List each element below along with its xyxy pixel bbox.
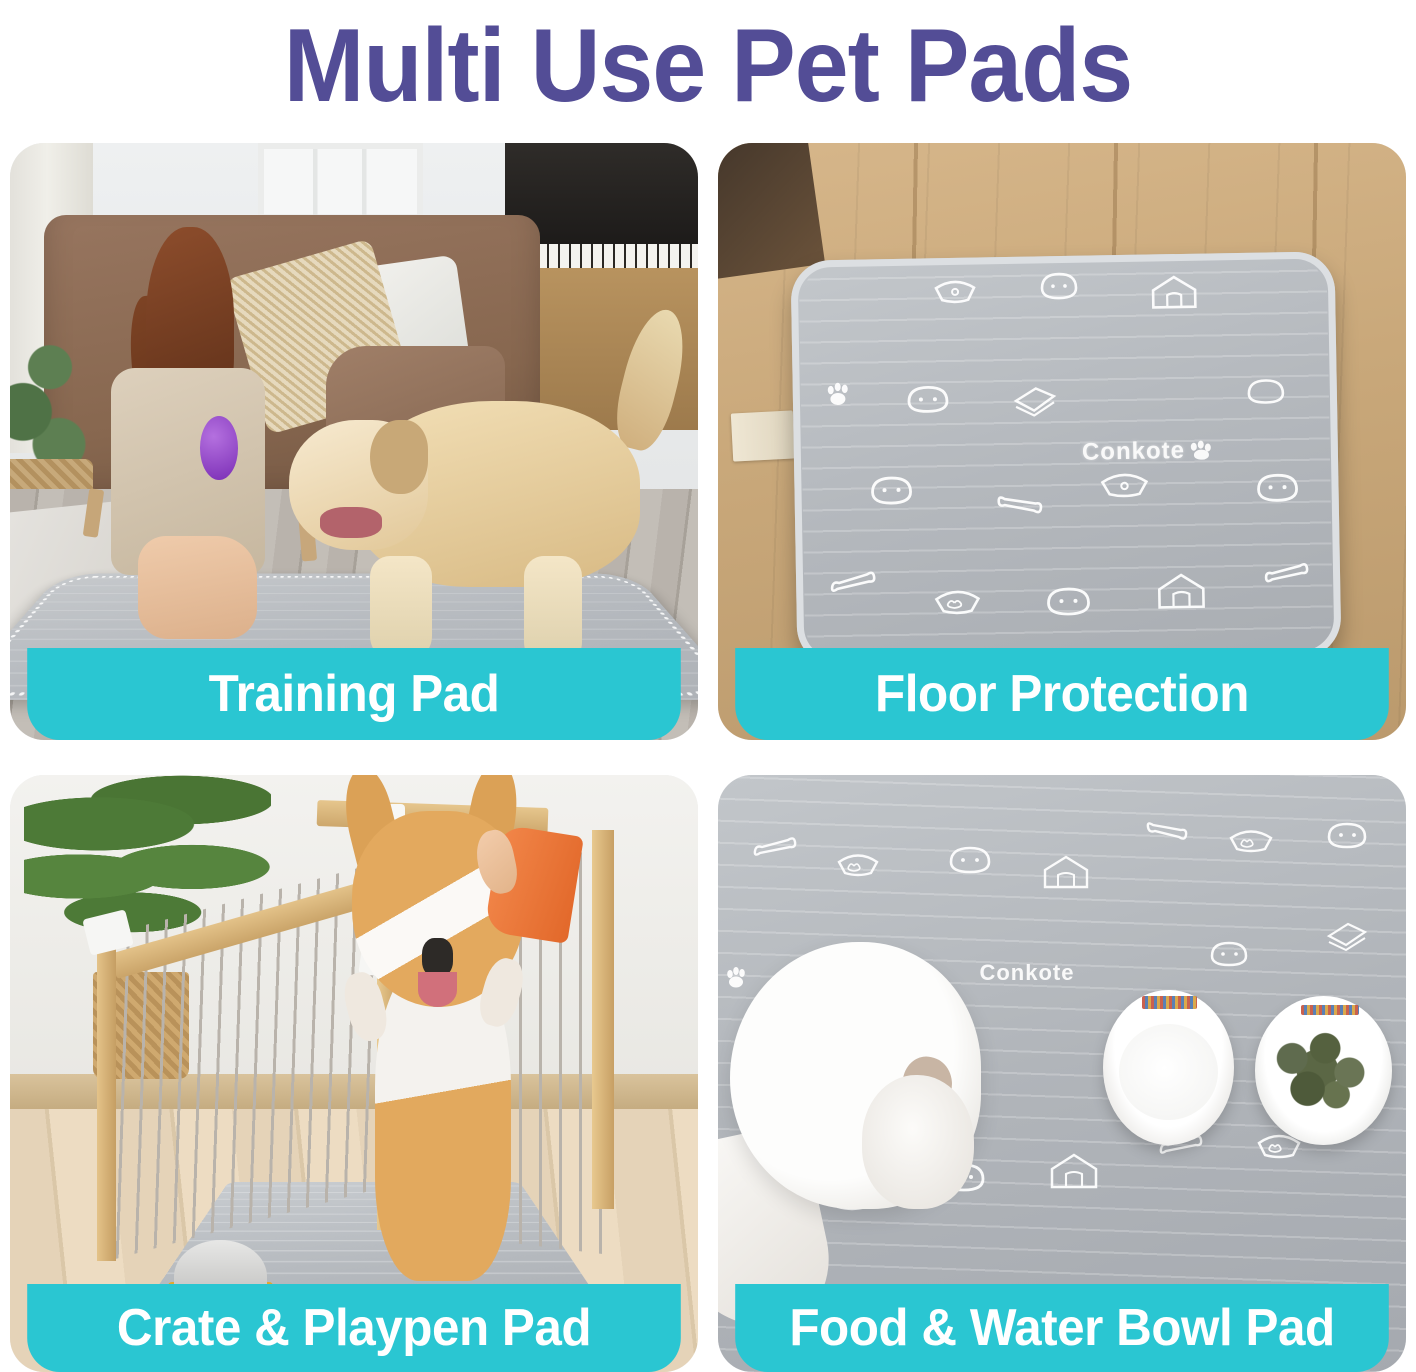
puppy-face-icon [865, 470, 918, 507]
paw-print-icon [825, 382, 853, 408]
caption-crate-playpen-pad: Crate & Playpen Pad [27, 1284, 681, 1372]
puppy-face-icon [901, 380, 954, 415]
puppy-face-icon [1323, 817, 1371, 849]
corgi-mouth [418, 972, 458, 1006]
puppy-face-icon [1243, 374, 1288, 405]
page-title: Multi Use Pet Pads [50, 0, 1367, 132]
puppy-face-icon [945, 841, 995, 875]
playpen-post-right [592, 830, 614, 1208]
care-tag [731, 410, 795, 461]
food-bowl-icon [932, 274, 979, 305]
bone-icon [828, 568, 878, 597]
bowl-decoration [1142, 996, 1197, 1008]
white-cat [718, 942, 1021, 1312]
water-bowl [1103, 990, 1234, 1145]
pad-stack-icon [1010, 382, 1059, 417]
infographic-page: Multi Use Pet Pads [0, 0, 1416, 1370]
plate-food [1268, 1020, 1378, 1121]
food-bowl-icon [932, 583, 983, 616]
labrador-dog [285, 364, 670, 674]
pet-pad: Conkote [790, 252, 1341, 667]
bowl-milk [1119, 1024, 1218, 1120]
caption-food-water-bowl-pad: Food & Water Bowl Pad [735, 1284, 1389, 1372]
corgi-dog [333, 811, 567, 1301]
food-bowl-icon [835, 847, 881, 877]
girl [99, 227, 292, 657]
card-floor-protection[interactable]: Conkote Floor Protection [718, 143, 1406, 740]
food-plate [1255, 996, 1393, 1145]
playpen-post-left [97, 925, 116, 1261]
dog-house-icon [1041, 853, 1091, 891]
bone-icon [752, 835, 798, 861]
dog-house-icon [1048, 1151, 1100, 1191]
dog-ear [370, 420, 428, 495]
caption-training-pad: Training Pad [27, 648, 681, 740]
puppy-face-icon [1206, 936, 1252, 968]
plate-decoration [1301, 1005, 1359, 1015]
dog-house-icon [1154, 571, 1207, 612]
bone-icon [1263, 561, 1311, 588]
dog-front-leg [370, 556, 432, 662]
scene-cat-bowls: Conkote Conkote [718, 775, 1406, 1372]
card-food-water-bowl-pad[interactable]: Conkote Conkote [718, 775, 1406, 1372]
legs [138, 536, 257, 639]
brand-logo: Conkote [1081, 437, 1210, 467]
pad-stack-icon [1323, 918, 1369, 952]
cat-head [862, 1075, 974, 1208]
purple-ball-toy [200, 416, 239, 480]
puppy-face-icon [1035, 268, 1082, 301]
paw-print-icon [1190, 441, 1210, 461]
puppy-face-icon [1040, 581, 1095, 618]
puppy-face-icon [1250, 467, 1303, 504]
dog-house-icon [1149, 274, 1198, 311]
floor-shadow [718, 143, 824, 283]
caption-floor-protection: Floor Protection [735, 648, 1389, 740]
bone-icon [1145, 817, 1189, 843]
card-crate-playpen-pad[interactable]: Crate & Playpen Pad [10, 775, 698, 1372]
use-case-grid: Training Pad [10, 143, 1406, 1370]
scene-playpen [10, 775, 698, 1372]
dog-mouth [320, 507, 382, 538]
food-bowl-icon [1227, 823, 1275, 853]
food-bowl-icon [1098, 466, 1151, 499]
card-training-pad[interactable]: Training Pad [10, 143, 698, 740]
bone-icon [995, 492, 1045, 519]
brand-name: Conkote [1081, 437, 1184, 467]
